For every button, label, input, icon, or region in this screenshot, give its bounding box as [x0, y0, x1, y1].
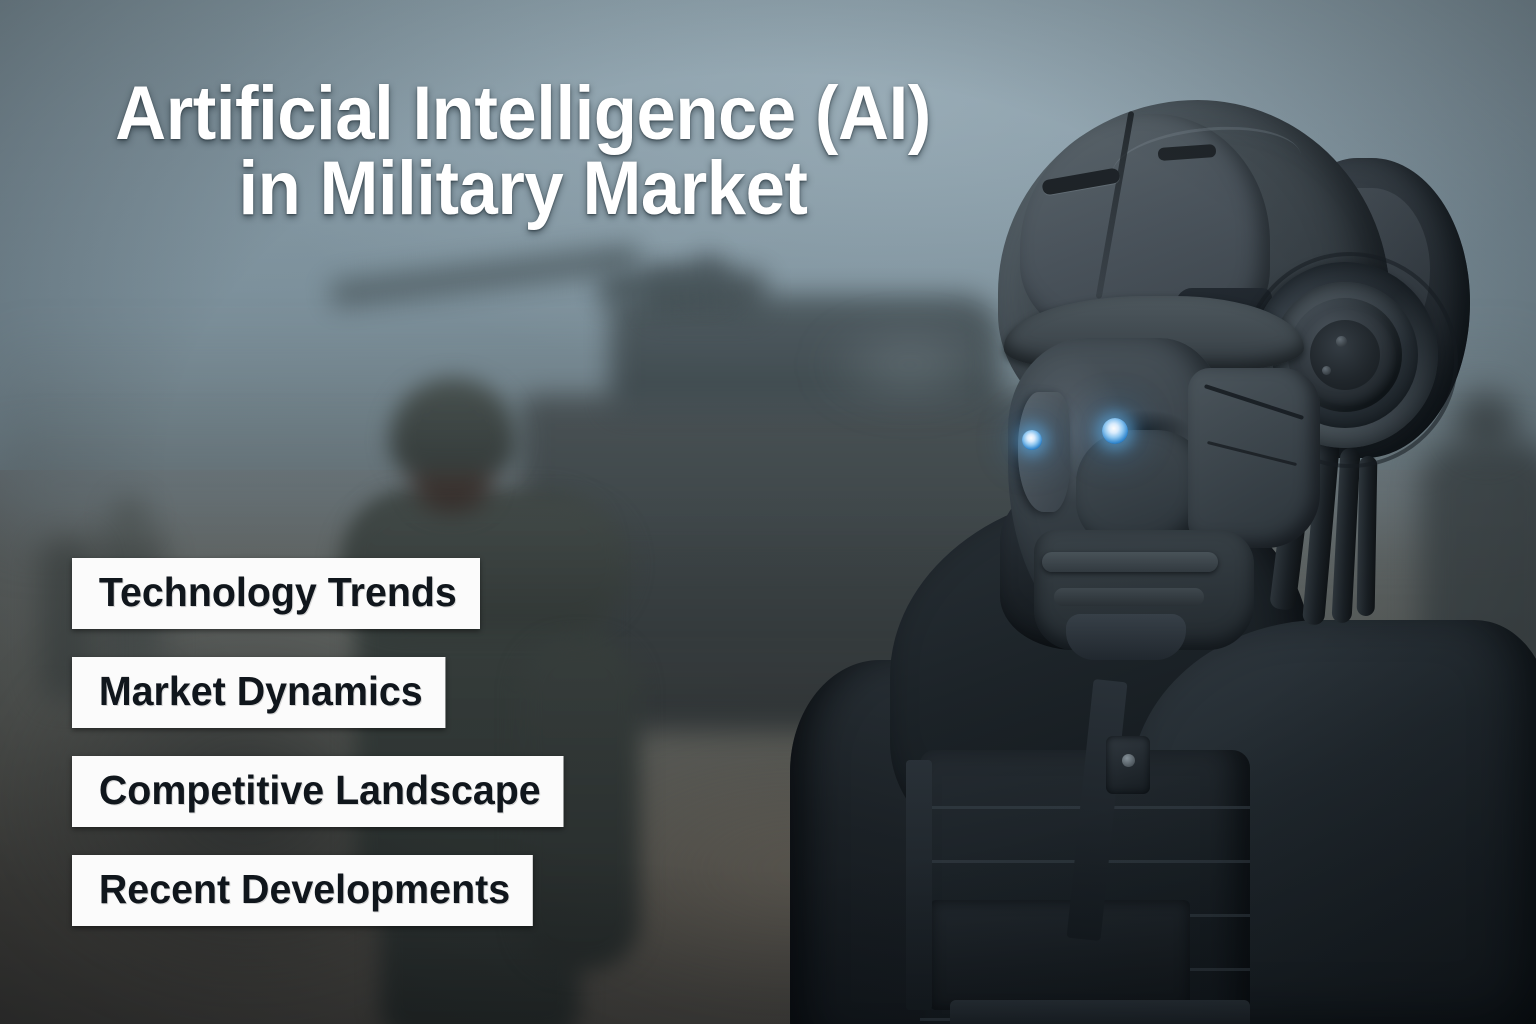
- topic-tag-competitive-landscape[interactable]: Competitive Landscape: [72, 756, 564, 827]
- topic-tag-market-dynamics[interactable]: Market Dynamics: [72, 657, 446, 728]
- right-eye-glow: [1102, 418, 1128, 444]
- topic-tag-recent-developments[interactable]: Recent Developments: [72, 855, 533, 926]
- robot-head: [980, 100, 1410, 580]
- page-title: Artificial Intelligence (AI) in Military…: [58, 76, 988, 226]
- left-eye-glow: [1022, 430, 1042, 450]
- banner-image: Artificial Intelligence (AI) in Military…: [0, 0, 1536, 1024]
- topic-tag-list: Technology Trends Market Dynamics Compet…: [72, 558, 584, 926]
- topic-tag-technology-trends[interactable]: Technology Trends: [72, 558, 480, 629]
